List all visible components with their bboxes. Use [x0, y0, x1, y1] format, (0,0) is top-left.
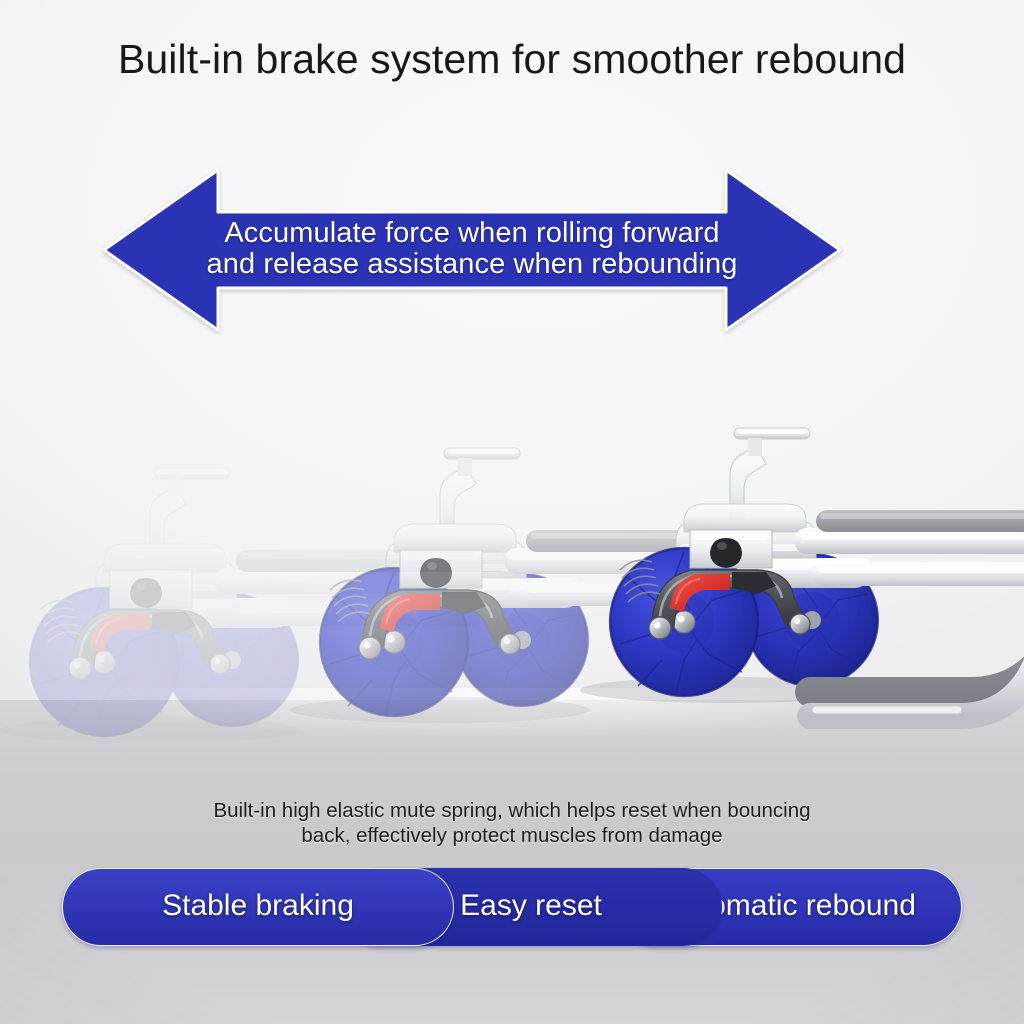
- product-photo-ab-roller: [0, 372, 1024, 758]
- badge-easy-reset-label: Easy reset: [460, 889, 602, 923]
- ab-roller-instances: [0, 372, 1024, 758]
- bidirectional-force-arrow: Accumulate force when rolling forward an…: [96, 162, 848, 338]
- feature-caption-line-2: back, effectively protect muscles from d…: [140, 823, 884, 848]
- feature-caption-line-1: Built-in high elastic mute spring, which…: [140, 798, 884, 823]
- badge-stable-braking[interactable]: Stable braking: [62, 868, 454, 946]
- badge-stable-braking-label: Stable braking: [162, 889, 354, 923]
- ab-roller-solid: [580, 428, 1024, 703]
- feature-caption: Built-in high elastic mute spring, which…: [140, 798, 884, 848]
- product-infographic: Built-in brake system for smoother rebou…: [0, 0, 1024, 1024]
- page-title: Built-in brake system for smoother rebou…: [0, 36, 1024, 83]
- feature-badge-bar: Stable braking Easy reset Automatic rebo…: [62, 868, 962, 946]
